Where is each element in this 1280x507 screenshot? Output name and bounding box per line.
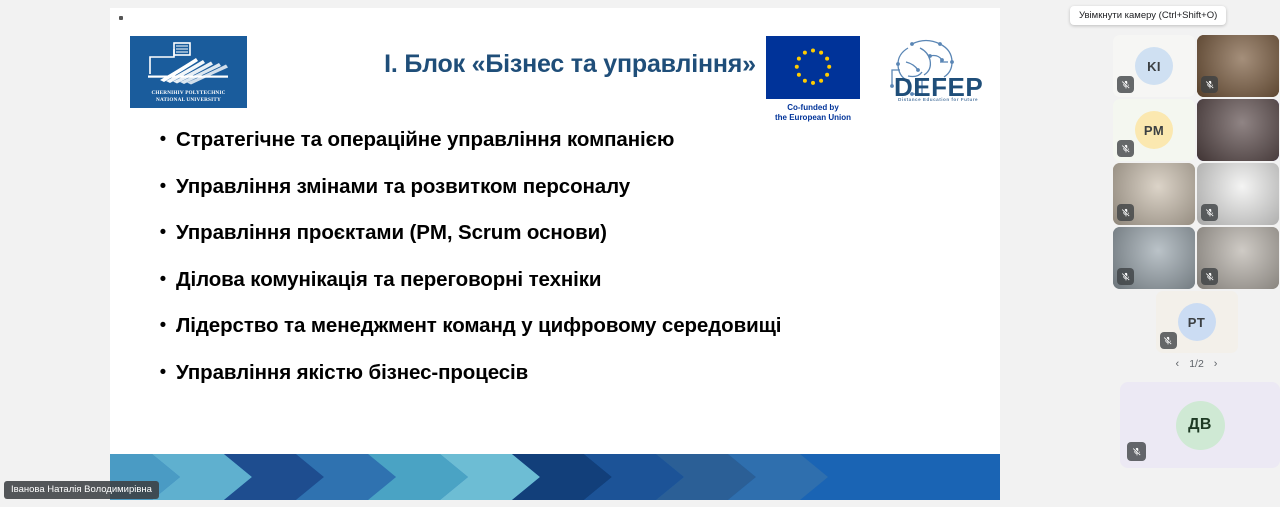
participant-tile[interactable]: KI [1113,35,1195,97]
mic-muted-icon [1160,332,1177,349]
bullet-text: Управління проєктами (PM, Scrum основи) [176,219,607,247]
mic-muted-icon [1117,204,1134,221]
mic-muted-icon [1117,268,1134,285]
page-indicator: 1/2 [1189,358,1204,370]
slide-marker-dot [119,16,123,20]
university-emblem-icon [130,40,247,86]
participant-tile-pt[interactable]: PT [1156,291,1238,353]
avatar: KI [1135,47,1173,85]
avatar: PM [1135,111,1173,149]
chernihiv-polytechnic-logo: CHERNIHIV POLYTECHNIC NATIONAL UNIVERSIT… [130,36,247,108]
left-gutter [0,0,110,507]
participant-tile[interactable] [1197,35,1279,97]
bullet-marker-icon: • [150,219,176,247]
participants-pagination: ‹1/2› [1113,356,1280,372]
bullet-marker-icon: • [150,359,176,387]
mic-muted-icon [1201,268,1218,285]
bullet-text: Стратегічне та операційне управління ком… [176,126,674,154]
slide-footer-banner [110,454,1000,500]
participant-tile[interactable] [1113,163,1195,225]
mic-muted-icon [1201,76,1218,93]
participants-rail: Увімкнути камеру (Ctrl+Shift+O) KIPMPT‹1… [1008,0,1280,507]
prev-page-icon[interactable]: ‹ [1176,358,1180,370]
participant-tile-dv[interactable]: ДВ [1120,382,1280,468]
participant-tile[interactable] [1197,99,1279,161]
participant-tile[interactable] [1113,227,1195,289]
avatar: PT [1178,303,1216,341]
video-feed [1197,99,1279,161]
avatar: ДВ [1176,401,1225,450]
bullet-text: Ділова комунікація та переговорні технік… [176,266,601,294]
next-page-icon[interactable]: › [1214,358,1218,370]
mic-muted-icon [1117,76,1134,93]
defep-subtitle: Distance Education for Future [898,97,978,102]
bullet-marker-icon: • [150,312,176,340]
shared-slide[interactable]: CHERNIHIV POLYTECHNIC NATIONAL UNIVERSIT… [110,8,1000,500]
eu-logo-caption: Co-funded by the European Union [758,103,868,123]
participant-tile-row: PM [1113,99,1280,161]
bullet-item: •Управління якістю бізнес-процесів [150,359,970,406]
eu-cofunded-logo: Co-funded by the European Union [758,36,868,123]
bullet-item: •Управління змінами та розвитком персона… [150,173,970,220]
camera-tooltip: Увімкнути камеру (Ctrl+Shift+O) [1070,6,1226,25]
bullet-item: •Стратегічне та операційне управління ко… [150,126,970,173]
bullet-text: Лідерство та менеджмент команд у цифрово… [176,312,781,340]
slide-header: CHERNIHIV POLYTECHNIC NATIONAL UNIVERSIT… [110,22,1000,108]
participant-tile-row: PT [1113,291,1280,353]
mic-muted-icon [1117,140,1134,157]
bullet-text: Управління якістю бізнес-процесів [176,359,528,387]
bullet-item: •Лідерство та менеджмент команд у цифров… [150,312,970,359]
participant-grid[interactable]: KIPMPT‹1/2› [1113,35,1280,372]
participant-tile[interactable]: PM [1113,99,1195,161]
eu-flag-icon [766,36,860,99]
university-name: CHERNIHIV POLYTECHNIC NATIONAL UNIVERSIT… [151,90,225,103]
mic-muted-icon [1201,204,1218,221]
participant-tile[interactable] [1197,227,1279,289]
bullet-marker-icon: • [150,173,176,201]
participant-tile[interactable] [1197,163,1279,225]
participant-tile-row [1113,227,1280,289]
participant-tile-row [1113,163,1280,225]
slide-bullet-list: •Стратегічне та операційне управління ко… [150,126,970,405]
meeting-screen: CHERNIHIV POLYTECHNIC NATIONAL UNIVERSIT… [0,0,1280,507]
bullet-text: Управління змінами та розвитком персонал… [176,173,630,201]
presenter-name-label: Іванова Наталія Володимирівна [4,481,159,499]
bullet-item: •Ділова комунікація та переговорні техні… [150,266,970,313]
defep-logo: DEFEP Distance Education for Future [878,34,986,110]
mic-muted-icon [1127,442,1146,461]
bullet-item: •Управління проєктами (PM, Scrum основи) [150,219,970,266]
participant-tile-row: KI [1113,35,1280,97]
bullet-marker-icon: • [150,266,176,294]
bullet-marker-icon: • [150,126,176,154]
